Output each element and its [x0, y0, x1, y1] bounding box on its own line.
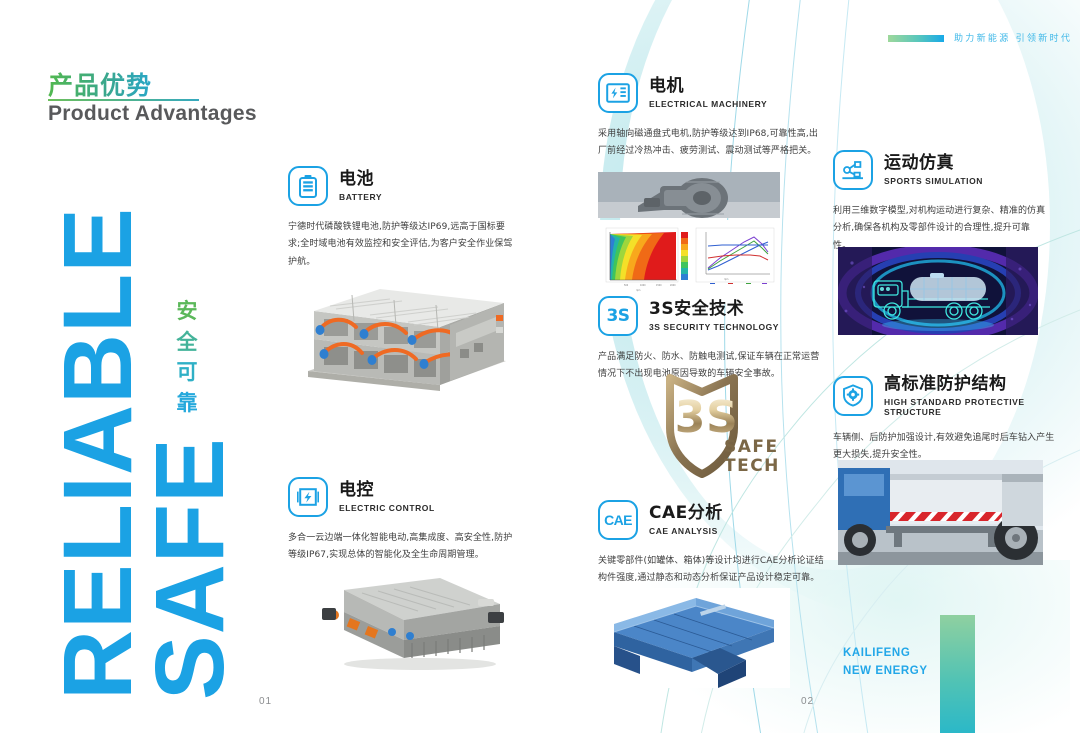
feature-titles: 运动仿真 SPORTS SIMULATION [884, 154, 983, 186]
feature-header: 电机 ELECTRICAL MACHINERY [598, 73, 826, 113]
feature-title-cn: 电控 [339, 481, 435, 501]
feature-titles: 电池 BATTERY [339, 170, 382, 202]
motor-performance-charts: 5001000 15002000 rpm rpm [598, 220, 780, 304]
cae-icon-label: CAE [604, 512, 632, 528]
feature-titles: CAE分析 CAE ANALYSIS [649, 504, 723, 536]
feature-description: 车辆侧、后防护加强设计,有效避免追尾时后车钻入产生更大损失,提升安全性。 [833, 430, 1055, 465]
brand-name-line-2: NEW ENERGY [843, 663, 928, 681]
battery-pack-photo [290, 275, 522, 395]
feature-title-en: BATTERY [339, 192, 382, 202]
feature-electric-control: 电控 ELECTRIC CONTROL 多合一云边端一体化智能电动,高集成度、高… [288, 477, 516, 565]
feature-title-cn: 高标准防护结构 [884, 375, 1055, 395]
robot-arm-icon [833, 150, 873, 190]
axial-flux-motor-photo [598, 172, 780, 218]
feature-title-en: 3S SECURITY TECHNOLOGY [649, 322, 779, 332]
feature-title-en: SPORTS SIMULATION [884, 176, 983, 186]
battery-icon [288, 166, 328, 206]
feature-title-cn: 运动仿真 [884, 154, 983, 174]
big-word-reliable: RELIABLE [60, 207, 136, 700]
cae-tank-render [600, 588, 790, 688]
title-underline [48, 99, 199, 101]
feature-header: 电控 ELECTRIC CONTROL [288, 477, 516, 517]
feature-sports-simulation: 运动仿真 SPORTS SIMULATION 利用三维数字模型,对机构运动进行复… [833, 150, 1048, 255]
svg-text:1500: 1500 [656, 284, 662, 287]
svg-text:SAFE: SAFE [724, 437, 779, 457]
page-title-en: Product Advantages [48, 102, 257, 126]
electric-control-unit-photo [292, 568, 520, 678]
motor-icon [598, 73, 638, 113]
feature-cae-analysis: CAE CAE分析 CAE ANALYSIS 关键零部件(如罐体、箱体)等设计均… [598, 500, 826, 588]
brand-mark: KAILIFENG NEW ENERGY [843, 645, 928, 681]
3s-icon: 3S [598, 296, 638, 336]
feature-title-en: ELECTRIC CONTROL [339, 503, 435, 513]
page-number-right: 02 [801, 696, 814, 707]
feature-protective-structure: 高标准防护结构 HIGH STANDARD PROTECTIVE STRUCTU… [833, 375, 1055, 464]
svg-text:S: S [706, 392, 738, 443]
feature-description: 多合一云边端一体化智能电动,高集成度、高安全性,防护等级IP67,实现总体的智能… [288, 530, 516, 565]
3s-safe-tech-shield-logo: 3 S SAFE TECH [640, 370, 810, 495]
digital-twin-truck-photo [838, 247, 1038, 335]
feature-title-cn: 电池 [339, 170, 382, 190]
brochure-spread: 助力新能源 引领新时代 产品优势 Product Advantages 安 全 … [0, 0, 1080, 733]
header-tagline: 助力新能源 引领新时代 [954, 31, 1072, 44]
big-word-safe: SAFE [152, 437, 228, 700]
vertical-slogan-char-1: 安 [167, 296, 207, 327]
feature-header: CAE CAE分析 CAE ANALYSIS [598, 500, 826, 540]
truck-rear-guard-photo [838, 460, 1043, 565]
svg-text:500: 500 [624, 284, 629, 287]
page-title-cn: 产品优势 [48, 66, 152, 102]
feature-title-cn: 电机 [649, 77, 767, 97]
feature-header: 电池 BATTERY [288, 166, 516, 206]
brand-gradient-bar [940, 615, 975, 733]
electric-control-icon [288, 477, 328, 517]
shield-gear-icon [833, 376, 873, 416]
svg-text:rpm: rpm [724, 278, 728, 281]
svg-text:rpm: rpm [636, 289, 640, 292]
feature-title-cn: 3S安全技术 [649, 300, 779, 320]
feature-titles: 电机 ELECTRICAL MACHINERY [649, 77, 767, 109]
feature-titles: 高标准防护结构 HIGH STANDARD PROTECTIVE STRUCTU… [884, 375, 1055, 417]
feature-title-cn: CAE分析 [649, 504, 723, 524]
svg-text:TECH: TECH [724, 456, 780, 476]
feature-description: 关键零部件(如罐体、箱体)等设计均进行CAE分析论证结构件强度,通过静态和动态分… [598, 553, 826, 588]
feature-header: 高标准防护结构 HIGH STANDARD PROTECTIVE STRUCTU… [833, 375, 1055, 417]
feature-battery: 电池 BATTERY 宁德时代磷酸铁锂电池,防护等级达IP69,远高于国标要求;… [288, 166, 516, 271]
tagline-gradient-bar [888, 35, 944, 42]
svg-text:1000: 1000 [640, 284, 646, 287]
shield-number: 3 [675, 392, 706, 443]
vertical-slogan-char-4: 靠 [167, 388, 207, 419]
vertical-slogan: 安 全 可 靠 [167, 296, 207, 419]
feature-header: 运动仿真 SPORTS SIMULATION [833, 150, 1048, 190]
page-number-left: 01 [259, 696, 272, 707]
brand-name-line-1: KAILIFENG [843, 645, 928, 663]
feature-header: 3S 3S安全技术 3S SECURITY TECHNOLOGY [598, 296, 826, 336]
feature-description: 宁德时代磷酸铁锂电池,防护等级达IP69,远高于国标要求;全时域电池有效监控和安… [288, 219, 516, 271]
feature-title-en: HIGH STANDARD PROTECTIVE STRUCTURE [884, 397, 1055, 417]
3s-icon-label: 3S [606, 306, 629, 326]
feature-title-en: ELECTRICAL MACHINERY [649, 99, 767, 109]
svg-text:2000: 2000 [670, 284, 676, 287]
feature-titles: 电控 ELECTRIC CONTROL [339, 481, 435, 513]
vertical-slogan-char-2: 全 [167, 327, 207, 358]
feature-electrical-machinery: 电机 ELECTRICAL MACHINERY 采用轴向磁通盘式电机,防护等级达… [598, 73, 826, 161]
cae-icon: CAE [598, 500, 638, 540]
vertical-slogan-char-3: 可 [167, 357, 207, 388]
feature-title-en: CAE ANALYSIS [649, 526, 723, 536]
feature-titles: 3S安全技术 3S SECURITY TECHNOLOGY [649, 300, 779, 332]
feature-description: 采用轴向磁通盘式电机,防护等级达到IP68,可靠性高,出厂前经过冷热冲击、疲劳测… [598, 126, 826, 161]
